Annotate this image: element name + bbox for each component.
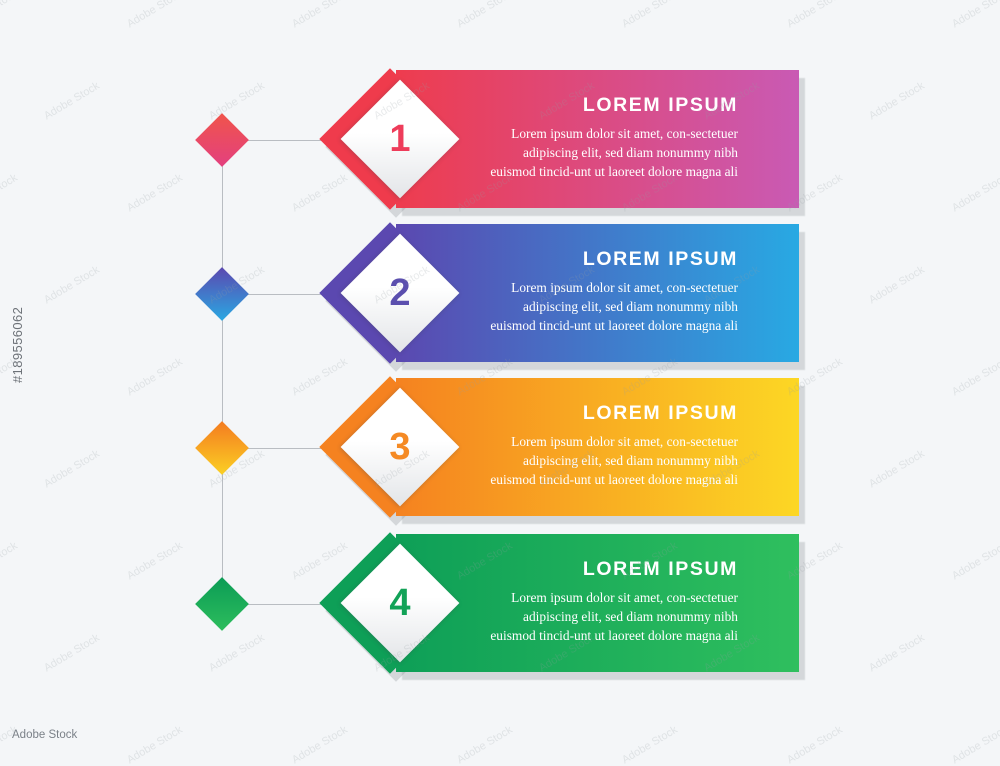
watermark-tile: Adobe Stock — [620, 0, 680, 30]
watermark-tile: Adobe Stock — [42, 448, 102, 490]
watermark-tile: Adobe Stock — [620, 724, 680, 766]
watermark-tile: Adobe Stock — [950, 724, 1000, 766]
watermark-tile: Adobe Stock — [0, 172, 20, 214]
step-number-label-1: 1 — [358, 97, 442, 181]
step-body-4: Lorem ipsum dolor sit amet, con-sectetue… — [488, 588, 738, 645]
watermark-tile: Adobe Stock — [207, 632, 267, 674]
watermark-tile: Adobe Stock — [785, 724, 845, 766]
watermark-tile: Adobe Stock — [867, 80, 927, 122]
step-text-1: LOREM IPSUM Lorem ipsum dolor sit amet, … — [488, 94, 738, 181]
watermark-image-id: #189556062 — [10, 307, 25, 383]
watermark-tile: Adobe Stock — [0, 0, 20, 30]
step-row-4[interactable]: 4 LOREM IPSUM Lorem ipsum dolor sit amet… — [340, 534, 805, 674]
watermark-tile: Adobe Stock — [125, 540, 185, 582]
step-number-diamond-4: 4 — [358, 561, 442, 645]
watermark-tile: Adobe Stock — [455, 0, 515, 30]
mini-diamond-1[interactable] — [195, 113, 249, 167]
watermark-tile: Adobe Stock — [125, 172, 185, 214]
watermark-tile: Adobe Stock — [125, 356, 185, 398]
step-number-diamond-3: 3 — [358, 405, 442, 489]
watermark-tile: Adobe Stock — [290, 724, 350, 766]
watermark-tile: Adobe Stock — [125, 724, 185, 766]
step-row-1[interactable]: 1 LOREM IPSUM Lorem ipsum dolor sit amet… — [340, 70, 805, 210]
step-number-label-3: 3 — [358, 405, 442, 489]
watermark-tile: Adobe Stock — [950, 172, 1000, 214]
step-number-label-4: 4 — [358, 561, 442, 645]
step-text-3: LOREM IPSUM Lorem ipsum dolor sit amet, … — [488, 402, 738, 489]
watermark-tile: Adobe Stock — [950, 0, 1000, 30]
step-text-4: LOREM IPSUM Lorem ipsum dolor sit amet, … — [488, 558, 738, 645]
step-row-2[interactable]: 2 LOREM IPSUM Lorem ipsum dolor sit amet… — [340, 224, 805, 364]
step-body-1: Lorem ipsum dolor sit amet, con-sectetue… — [488, 124, 738, 181]
watermark-tile: Adobe Stock — [42, 80, 102, 122]
watermark-tile: Adobe Stock — [455, 724, 515, 766]
mini-diamond-3[interactable] — [195, 421, 249, 475]
step-text-2: LOREM IPSUM Lorem ipsum dolor sit amet, … — [488, 248, 738, 335]
watermark-tile: Adobe Stock — [867, 264, 927, 306]
step-number-label-2: 2 — [358, 251, 442, 335]
watermark-footer: Adobe Stock — [12, 729, 77, 741]
watermark-tile: Adobe Stock — [125, 0, 185, 30]
watermark-tile: Adobe Stock — [290, 0, 350, 30]
watermark-tile: Adobe Stock — [950, 356, 1000, 398]
connector-vertical-line — [222, 140, 223, 605]
step-title-2: LOREM IPSUM — [488, 248, 738, 271]
watermark-tile: Adobe Stock — [42, 264, 102, 306]
watermark-tile: Adobe Stock — [0, 540, 20, 582]
watermark-tile: Adobe Stock — [950, 540, 1000, 582]
mini-diamond-2[interactable] — [195, 267, 249, 321]
step-title-3: LOREM IPSUM — [488, 402, 738, 425]
infographic-canvas: 1 LOREM IPSUM Lorem ipsum dolor sit amet… — [0, 0, 1000, 750]
step-row-3[interactable]: 3 LOREM IPSUM Lorem ipsum dolor sit amet… — [340, 378, 805, 518]
watermark-tile: Adobe Stock — [785, 0, 845, 30]
watermark-tile: Adobe Stock — [867, 632, 927, 674]
watermark-tile: Adobe Stock — [42, 632, 102, 674]
watermark-tile: Adobe Stock — [867, 448, 927, 490]
watermark-tile: Adobe Stock — [207, 80, 267, 122]
step-number-diamond-1: 1 — [358, 97, 442, 181]
step-title-1: LOREM IPSUM — [488, 94, 738, 117]
step-body-2: Lorem ipsum dolor sit amet, con-sectetue… — [488, 278, 738, 335]
step-number-diamond-2: 2 — [358, 251, 442, 335]
mini-diamond-4[interactable] — [195, 577, 249, 631]
step-title-4: LOREM IPSUM — [488, 558, 738, 581]
step-body-3: Lorem ipsum dolor sit amet, con-sectetue… — [488, 432, 738, 489]
